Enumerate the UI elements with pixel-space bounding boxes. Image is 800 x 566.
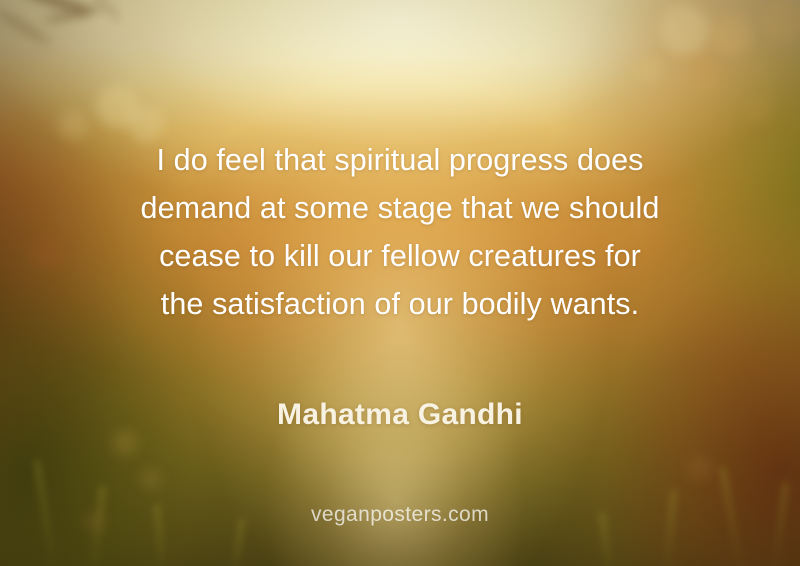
quote-poster: I do feel that spiritual progress does d…	[0, 0, 800, 566]
quote-author: Mahatma Gandhi	[0, 398, 800, 432]
site-watermark: veganposters.com	[0, 503, 800, 527]
quote-line: demand at some stage that we should	[50, 184, 750, 232]
quote-line: the satisfaction of our bodily wants.	[50, 280, 750, 328]
quote-text-block: I do feel that spiritual progress does d…	[50, 136, 750, 328]
poster-content: I do feel that spiritual progress does d…	[0, 0, 800, 566]
quote-line: cease to kill our fellow creatures for	[50, 232, 750, 280]
quote-line: I do feel that spiritual progress does	[50, 136, 750, 184]
